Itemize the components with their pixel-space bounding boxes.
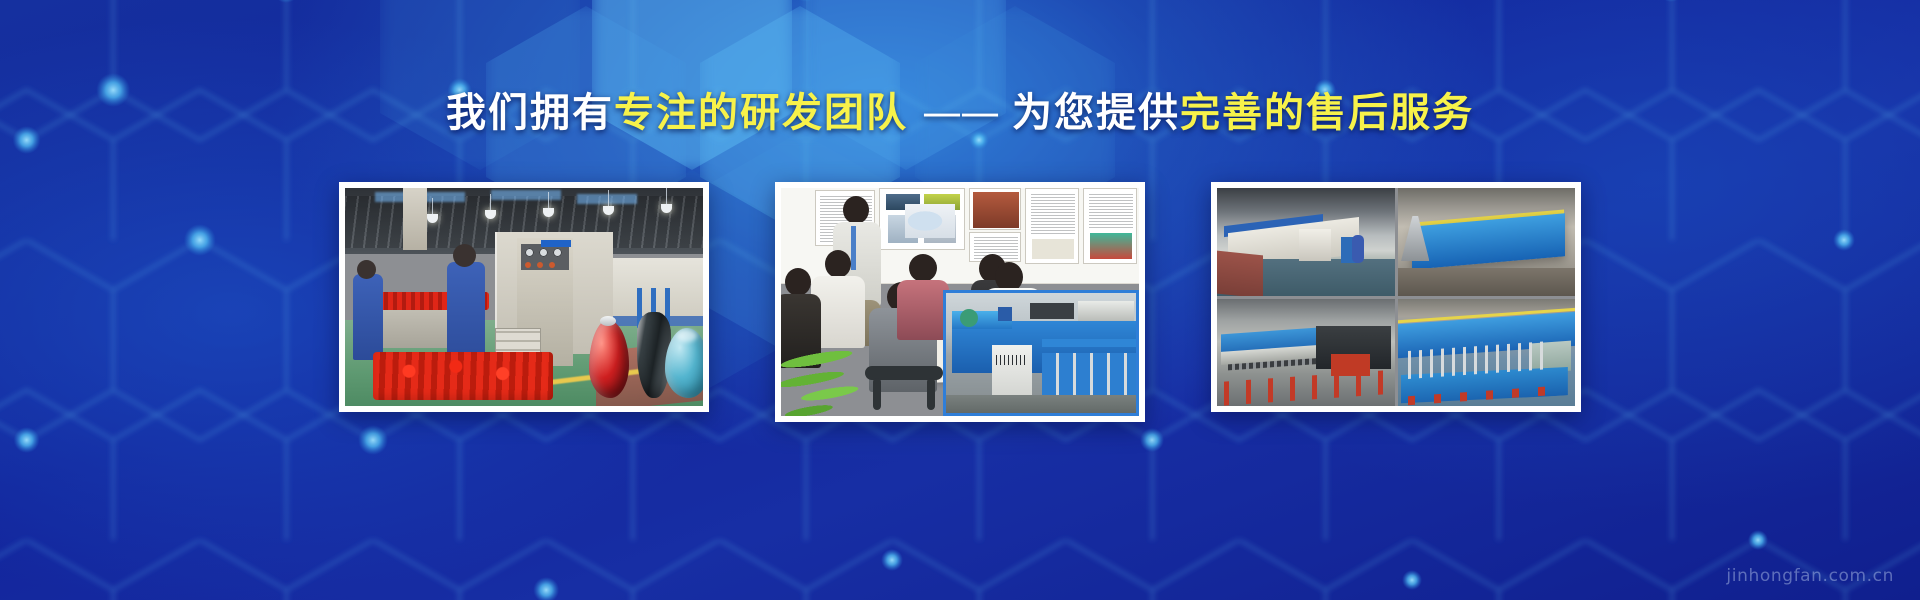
collage-quadrant-top-right xyxy=(1398,188,1576,296)
banner-headline: 我们拥有专注的研发团队——为您提供完善的售后服务 xyxy=(0,88,1920,136)
promotional-banner: 我们拥有专注的研发团队——为您提供完善的售后服务 xyxy=(0,0,1920,600)
headline-segment-2: 专注的研发团队 xyxy=(614,90,908,136)
production-line-photo xyxy=(339,182,709,412)
headline-segment-4: 完善的售后服务 xyxy=(1180,90,1474,136)
customer-meeting-photo xyxy=(775,182,1145,422)
customer-meeting-image xyxy=(781,188,1139,416)
headline-divider-dash: —— xyxy=(908,90,1012,136)
photo-panel-row xyxy=(0,182,1920,422)
equipment-collage-image xyxy=(1217,188,1575,406)
collage-quadrant-top-left xyxy=(1217,188,1395,296)
collage-quadrant-bottom-left xyxy=(1217,299,1395,407)
site-watermark: jinhongfan.com.cn xyxy=(1726,566,1894,586)
equipment-collage-photo xyxy=(1211,182,1581,412)
headline-segment-1: 我们拥有 xyxy=(446,90,614,136)
glass-vase-teal xyxy=(665,328,703,398)
collage-quadrant-bottom-right xyxy=(1398,299,1576,407)
headline-segment-3: 为您提供 xyxy=(1012,90,1180,136)
production-line-image xyxy=(345,188,703,406)
inset-equipment-photo xyxy=(943,290,1139,416)
